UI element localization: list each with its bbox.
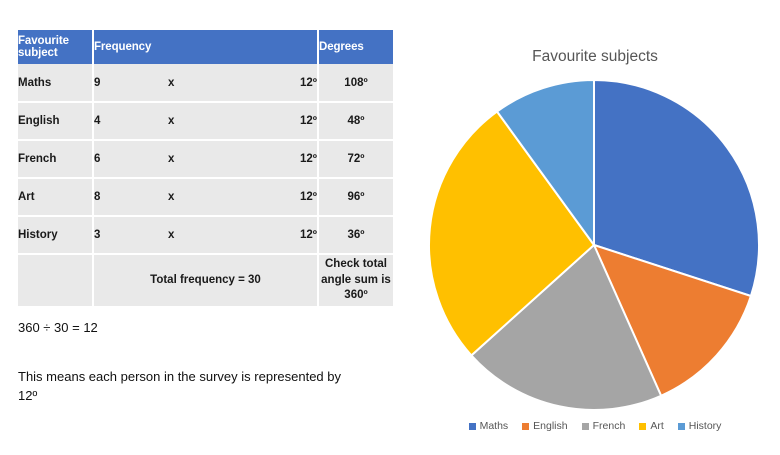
- cell-subject: French: [18, 140, 93, 178]
- cell-frequency: 3: [93, 216, 168, 254]
- cell-frequency: 6: [93, 140, 168, 178]
- frequency-table: Favourite subject Frequency Degrees Math…: [18, 30, 393, 306]
- chart-legend: MathsEnglishFrenchArtHistory: [410, 420, 780, 432]
- table-row: History3x12º36º: [18, 216, 393, 254]
- cell-subject: Art: [18, 178, 93, 216]
- legend-item-history[interactable]: History: [678, 420, 722, 432]
- legend-swatch-icon: [582, 423, 589, 430]
- table-row: Maths9x12º108º: [18, 64, 393, 102]
- cell-subject: History: [18, 216, 93, 254]
- cell-subject: English: [18, 102, 93, 140]
- slide-canvas: Favourite subject Frequency Degrees Math…: [0, 0, 780, 455]
- cell-times-symbol: x: [168, 216, 243, 254]
- cell-times-symbol: x: [168, 102, 243, 140]
- column-header-frequency: Frequency: [93, 30, 318, 64]
- cell-subject: Maths: [18, 64, 93, 102]
- cell-frequency: 4: [93, 102, 168, 140]
- chart-title: Favourite subjects: [410, 48, 780, 66]
- cell-frequency: 9: [93, 64, 168, 102]
- table-row: French6x12º72º: [18, 140, 393, 178]
- legend-swatch-icon: [639, 423, 646, 430]
- cell-multiplier: 12º: [243, 140, 318, 178]
- pie-chart-graphic: [410, 78, 780, 423]
- legend-item-french[interactable]: French: [582, 420, 626, 432]
- legend-label: English: [533, 420, 567, 432]
- cell-frequency: 8: [93, 178, 168, 216]
- cell-degrees: 108º: [318, 64, 393, 102]
- cell-times-symbol: x: [168, 140, 243, 178]
- legend-label: Maths: [480, 420, 509, 432]
- calculation-note: 360 ÷ 30 = 12: [18, 319, 98, 338]
- column-header-subject: Favourite subject: [18, 30, 93, 64]
- total-frequency-label: Total frequency = 30: [93, 254, 318, 306]
- cell-degrees: 96º: [318, 178, 393, 216]
- legend-swatch-icon: [469, 423, 476, 430]
- cell-degrees: 36º: [318, 216, 393, 254]
- total-row-blank-cell: [18, 254, 93, 306]
- legend-swatch-icon: [678, 423, 685, 430]
- cell-times-symbol: x: [168, 64, 243, 102]
- legend-label: French: [593, 420, 626, 432]
- table-header-row: Favourite subject Frequency Degrees: [18, 30, 393, 64]
- total-angle-check-label: Check total angle sum is 360º: [318, 254, 393, 306]
- table-row: English4x12º48º: [18, 102, 393, 140]
- cell-multiplier: 12º: [243, 216, 318, 254]
- cell-multiplier: 12º: [243, 178, 318, 216]
- legend-item-art[interactable]: Art: [639, 420, 663, 432]
- legend-swatch-icon: [522, 423, 529, 430]
- legend-item-maths[interactable]: Maths: [469, 420, 509, 432]
- legend-item-english[interactable]: English: [522, 420, 567, 432]
- pie-chart-area: Favourite subjects MathsEnglishFrenchArt…: [410, 28, 780, 453]
- column-header-degrees: Degrees: [318, 30, 393, 64]
- table-header: Favourite subject Frequency Degrees: [18, 30, 393, 64]
- cell-times-symbol: x: [168, 178, 243, 216]
- table-total-row: Total frequency = 30Check total angle su…: [18, 254, 393, 306]
- cell-degrees: 48º: [318, 102, 393, 140]
- cell-degrees: 72º: [318, 140, 393, 178]
- legend-label: Art: [650, 420, 663, 432]
- cell-multiplier: 12º: [243, 64, 318, 102]
- table-row: Art8x12º96º: [18, 178, 393, 216]
- table-body: Maths9x12º108ºEnglish4x12º48ºFrench6x12º…: [18, 64, 393, 306]
- cell-multiplier: 12º: [243, 102, 318, 140]
- explanation-note: This means each person in the survey is …: [18, 368, 348, 406]
- legend-label: History: [689, 420, 722, 432]
